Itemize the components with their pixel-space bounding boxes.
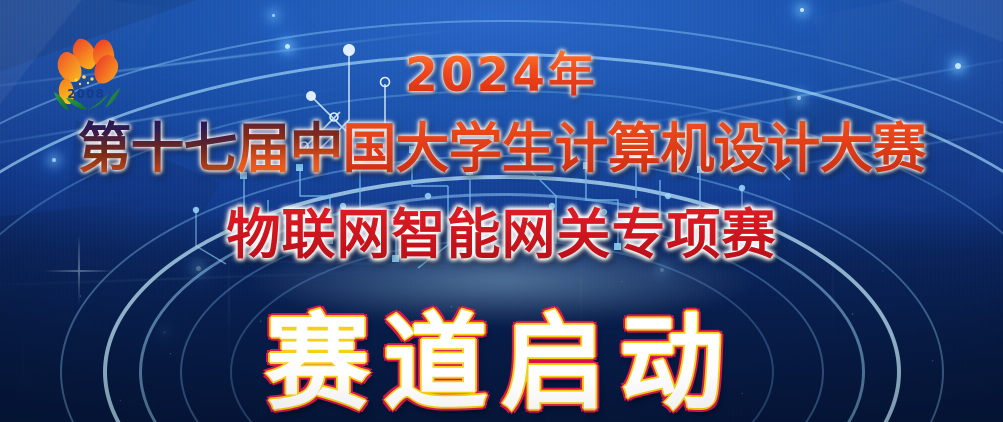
competition-banner: 2008 2024年 第十七届中国大学生计算机设计大赛 物联网智能网关专项赛 赛…	[0, 0, 1003, 422]
vignette-overlay	[0, 0, 1003, 422]
